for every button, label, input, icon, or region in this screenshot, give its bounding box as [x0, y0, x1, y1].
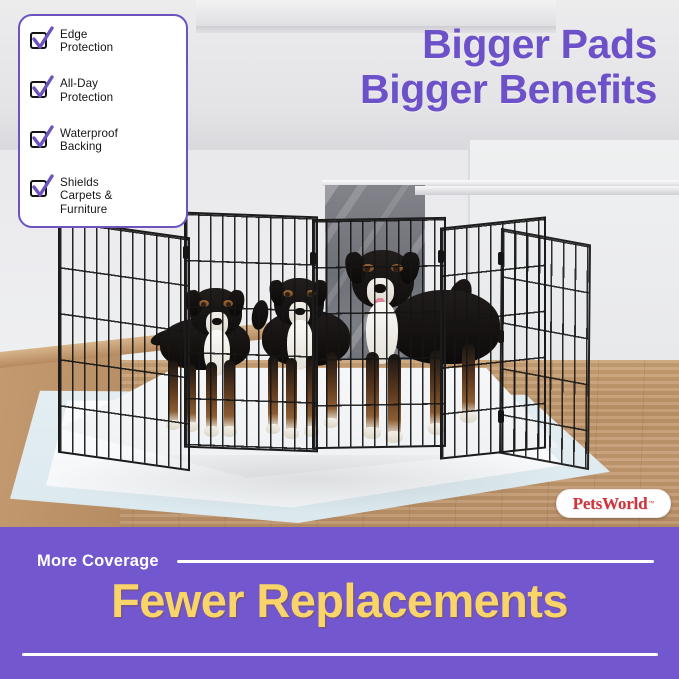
pen-hinge — [183, 246, 189, 259]
feature-item-shields-carpets-furniture: ShieldsCarpets &Furniture — [30, 176, 176, 216]
checkbox-check-icon — [30, 178, 51, 199]
trademark-mark: ™ — [648, 501, 654, 507]
pen-hinge — [498, 252, 504, 265]
feature-list-card: EdgeProtection All-DayProtection Waterpr… — [18, 14, 188, 228]
pen-panel — [58, 219, 190, 472]
pen-hinge — [310, 252, 316, 265]
pen-hinge — [438, 250, 444, 263]
feature-item-all-day-protection: All-DayProtection — [30, 77, 176, 104]
pen-hinge — [498, 330, 504, 343]
page-title: Bigger Pads Bigger Benefits — [360, 22, 657, 112]
banner-headline: Fewer Replacements — [0, 573, 679, 628]
product-marketing-image: PetsWorld™ Bigger Pads Bigger Benefits E… — [0, 0, 679, 679]
bottom-banner: More Coverage Fewer Replacements — [0, 527, 679, 679]
headline-line-2: Bigger Benefits — [360, 67, 657, 112]
checkbox-check-icon — [30, 79, 51, 100]
banner-rule-top — [177, 560, 654, 563]
feature-label: ShieldsCarpets &Furniture — [60, 176, 112, 216]
pen-hinge — [498, 410, 504, 423]
brand-logo: PetsWorld™ — [556, 489, 671, 518]
pen-panel — [499, 228, 591, 470]
checkbox-check-icon — [30, 129, 51, 150]
checkbox-check-icon — [30, 30, 51, 51]
pen-panel — [312, 217, 446, 449]
feature-label: EdgeProtection — [60, 28, 113, 55]
feature-label: All-DayProtection — [60, 77, 113, 104]
brand-name: PetsWorld — [573, 494, 648, 514]
pen-panel — [184, 212, 318, 453]
banner-subhead: More Coverage — [37, 552, 159, 571]
feature-label: WaterproofBacking — [60, 127, 118, 154]
feature-item-edge-protection: EdgeProtection — [30, 28, 176, 55]
feature-item-waterproof-backing: WaterproofBacking — [30, 127, 176, 154]
banner-rule-bottom — [22, 653, 658, 656]
banner-subhead-row: More Coverage — [0, 550, 679, 572]
headline-line-1: Bigger Pads — [360, 22, 657, 67]
